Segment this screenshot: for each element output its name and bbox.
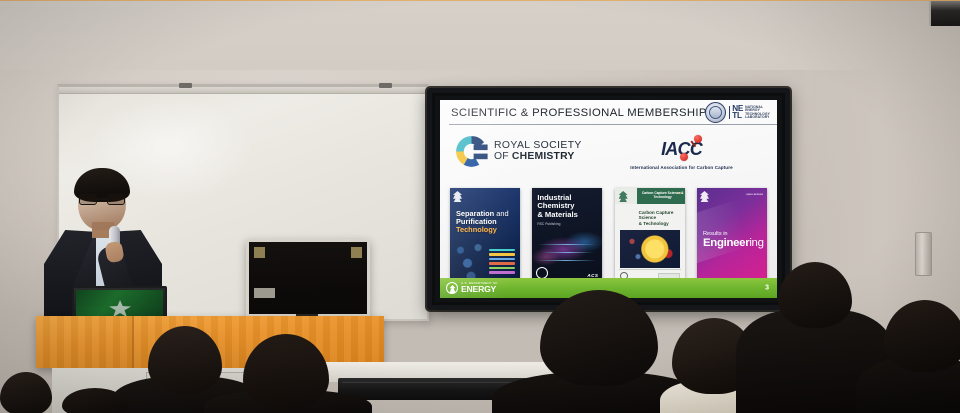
laptop-screen (76, 290, 163, 318)
journal-title-line-2: & Technology (639, 221, 669, 226)
journal-cover-item: open access Results in Engineering JCR Q… (697, 188, 767, 292)
journal-title-line-1: Carbon Capture Science (639, 210, 674, 220)
journal-title-line-3: & Materials (537, 210, 578, 219)
journal-title-line-2: Engineering (703, 238, 763, 250)
journal-title: Results in Engineering (703, 232, 763, 249)
doe-seal-icon (705, 102, 726, 123)
journal-cover-item: Separation and Purification Technology (450, 188, 520, 292)
cover-corner-mark: open access (746, 192, 763, 196)
journal-title: Industrial Chemistry & Materials (537, 194, 586, 219)
doe-seal-icon (446, 282, 458, 294)
journal-title-bold: Engineer (703, 237, 749, 249)
title-divider (449, 124, 777, 125)
iacc-logo: IACC International Association for Carbo… (614, 136, 749, 170)
journal-cover-carbon-capture: Carbon Capture Science & Technology OA C… (615, 188, 685, 284)
netl-letters-bottom: TL (732, 113, 743, 119)
rsc-wordmark: ROYAL SOCIETY OF CHEMISTRY (494, 141, 582, 163)
doe-logo: U.S. DEPARTMENT OF ENERGY (446, 282, 498, 294)
netl-letters: NE TL (732, 106, 743, 119)
journal-cover-results-in-engineering: open access Results in Engineering (697, 188, 767, 284)
monitor-label-icon (254, 288, 275, 298)
slide-title: SCIENTIFIC & PROFESSIONAL MEMBERSHIPS (451, 107, 715, 119)
laptop-emblem-icon (109, 300, 131, 317)
journal-cover-item: Industrial Chemistry & Materials RSC Pub… (532, 188, 602, 292)
desktop-monitor-back (246, 239, 370, 317)
podium-top-surface (0, 0, 960, 1)
podium-seam (132, 316, 134, 368)
cover-artwork (620, 230, 680, 268)
cover-streak-graphic (538, 244, 596, 245)
rsc-line-2: OF CHEMISTRY (494, 152, 582, 163)
netl-word-4: LABORATORY (745, 116, 770, 119)
slide-page-number: 3 (765, 285, 769, 292)
whiteboard-clip-icon (379, 83, 392, 88)
glasses-icon (79, 194, 125, 205)
ceiling-device-icon (929, 0, 960, 26)
netl-logo: NE TL NATIONAL ENERGY TECHNOLOGY LABORAT… (705, 102, 770, 123)
journal-cover-industrial-chemistry-materials: Industrial Chemistry & Materials RSC Pub… (532, 188, 602, 284)
journal-title: Separation and Purification Technology (456, 210, 516, 234)
wall-display[interactable]: SCIENTIFIC & PROFESSIONAL MEMBERSHIPS NE… (427, 88, 790, 310)
elsevier-tree-icon (700, 191, 709, 202)
cover-artwork (532, 222, 602, 272)
journal-cover-separation-purification: Separation and Purification Technology (450, 188, 520, 284)
iacc-molecule-dot-icon (694, 135, 702, 143)
journal-title: Carbon Capture Science & Technology (639, 210, 681, 226)
iacc-molecule-dot-icon (680, 153, 688, 161)
cover-bars-graphic (489, 249, 515, 276)
wall-outlet-plate (915, 232, 932, 276)
cover-artwork (450, 232, 520, 284)
presentation-slide: SCIENTIFIC & PROFESSIONAL MEMBERSHIPS NE… (440, 100, 777, 298)
doe-energy-label: ENERGY (461, 285, 498, 293)
journal-cover-item: Carbon Capture Science & Technology OA C… (615, 188, 685, 292)
netl-words: NATIONAL ENERGY TECHNOLOGY LABORATORY (745, 106, 770, 120)
cover-streak-graphic (536, 260, 596, 261)
rsc-of: OF (494, 151, 512, 162)
monitor-label-icon (254, 247, 265, 258)
iacc-mark: IACC (614, 136, 749, 162)
rsc-chemistry: CHEMISTRY (512, 151, 575, 162)
iacc-subtitle: International Association for Carbon Cap… (614, 165, 749, 170)
cover-streak-graphic (542, 252, 594, 253)
netl-mark: NE TL NATIONAL ENERGY TECHNOLOGY LABORAT… (729, 106, 770, 120)
royal-society-of-chemistry-logo: ROYAL SOCIETY OF CHEMISTRY (454, 134, 582, 169)
monitor-label-icon (351, 247, 362, 258)
rsc-c-icon (454, 134, 489, 169)
journal-title-light: ing (749, 237, 763, 249)
lecture-hall-photo: SCIENTIFIC & PROFESSIONAL MEMBERSHIPS NE… (0, 0, 960, 413)
doe-wordmark: U.S. DEPARTMENT OF ENERGY (461, 282, 498, 293)
whiteboard-rail (59, 87, 427, 94)
journal-covers-row: Separation and Purification Technology (450, 188, 767, 292)
open-access-mark: OA (677, 191, 681, 195)
elsevier-tree-icon (453, 191, 462, 202)
whiteboard-clip-icon (179, 83, 192, 88)
